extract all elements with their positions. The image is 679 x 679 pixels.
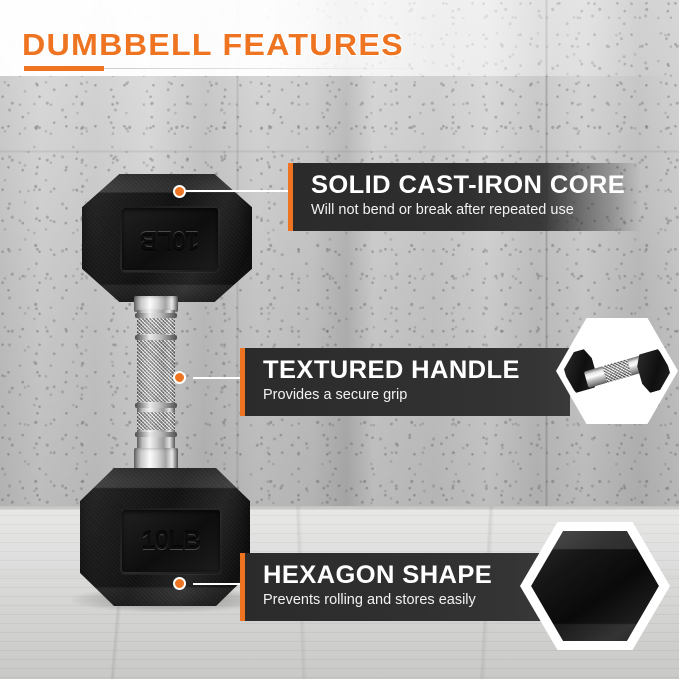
callout-textured-handle[interactable]: TEXTURED HANDLE Provides a secure grip bbox=[240, 348, 570, 416]
handle-knurl-bottom bbox=[137, 412, 175, 430]
mini-dumbbell-art bbox=[563, 324, 671, 418]
handle-ring-1 bbox=[135, 313, 177, 318]
callout-subtitle-handle: Provides a secure grip bbox=[263, 387, 570, 403]
callout-subtitle-core: Will not bend or break after repeated us… bbox=[311, 202, 640, 218]
title-underline-accent bbox=[24, 66, 104, 71]
dumbbell-side-view-icon bbox=[563, 324, 671, 418]
weight-plate-top: 10LB bbox=[120, 206, 220, 272]
title-underline-thin bbox=[104, 68, 434, 69]
callout-title-hexagon: HEXAGON SHAPE bbox=[263, 562, 556, 588]
mini-hex-end-right bbox=[634, 348, 671, 395]
callout-hexagon-shape[interactable]: HEXAGON SHAPE Prevents rolling and store… bbox=[240, 553, 550, 621]
wall-seam-horizontal bbox=[0, 150, 679, 153]
hexagon-face-art bbox=[531, 531, 659, 641]
page-title: DUMBBELL FEATURES bbox=[22, 27, 404, 63]
wall-seam-vertical bbox=[545, 0, 548, 512]
marker-dot-hexagon bbox=[173, 577, 186, 590]
weight-plate-bottom: 10LB bbox=[120, 508, 222, 574]
infographic-canvas: DUMBBELL FEATURES 10LB 10L bbox=[0, 0, 679, 679]
callout-solid-cast-iron-core[interactable]: SOLID CAST-IRON CORE Will not bend or br… bbox=[288, 163, 640, 231]
handle-knurl-center bbox=[137, 340, 175, 402]
hexagon-end-face-icon bbox=[531, 531, 659, 641]
callout-title-handle: TEXTURED HANDLE bbox=[263, 357, 576, 383]
marker-dot-core bbox=[173, 185, 186, 198]
dumbbell-handle bbox=[134, 296, 178, 472]
dumbbell-bottom-weight: 10LB bbox=[80, 468, 250, 606]
callout-panel-handle: TEXTURED HANDLE Provides a secure grip bbox=[245, 348, 570, 416]
weight-label-top: 10LB bbox=[140, 225, 199, 254]
handle-ring-2 bbox=[135, 335, 177, 340]
marker-dot-handle bbox=[173, 371, 186, 384]
mini-knurl-texture bbox=[602, 359, 631, 382]
header-banner: DUMBBELL FEATURES bbox=[0, 0, 679, 76]
callout-panel-hexagon: HEXAGON SHAPE Prevents rolling and store… bbox=[245, 553, 550, 621]
handle-knurl-top bbox=[137, 318, 175, 334]
handle-ring-3 bbox=[135, 403, 177, 408]
leader-line-core bbox=[186, 190, 296, 192]
weight-label-bottom: 10LB bbox=[141, 527, 200, 556]
dumbbell-top-weight: 10LB bbox=[82, 174, 252, 302]
callout-panel-core: SOLID CAST-IRON CORE Will not bend or br… bbox=[293, 163, 640, 231]
handle-ring-4 bbox=[135, 432, 177, 437]
callout-subtitle-hexagon: Prevents rolling and stores easily bbox=[263, 592, 550, 608]
callout-title-core: SOLID CAST-IRON CORE bbox=[311, 172, 647, 198]
